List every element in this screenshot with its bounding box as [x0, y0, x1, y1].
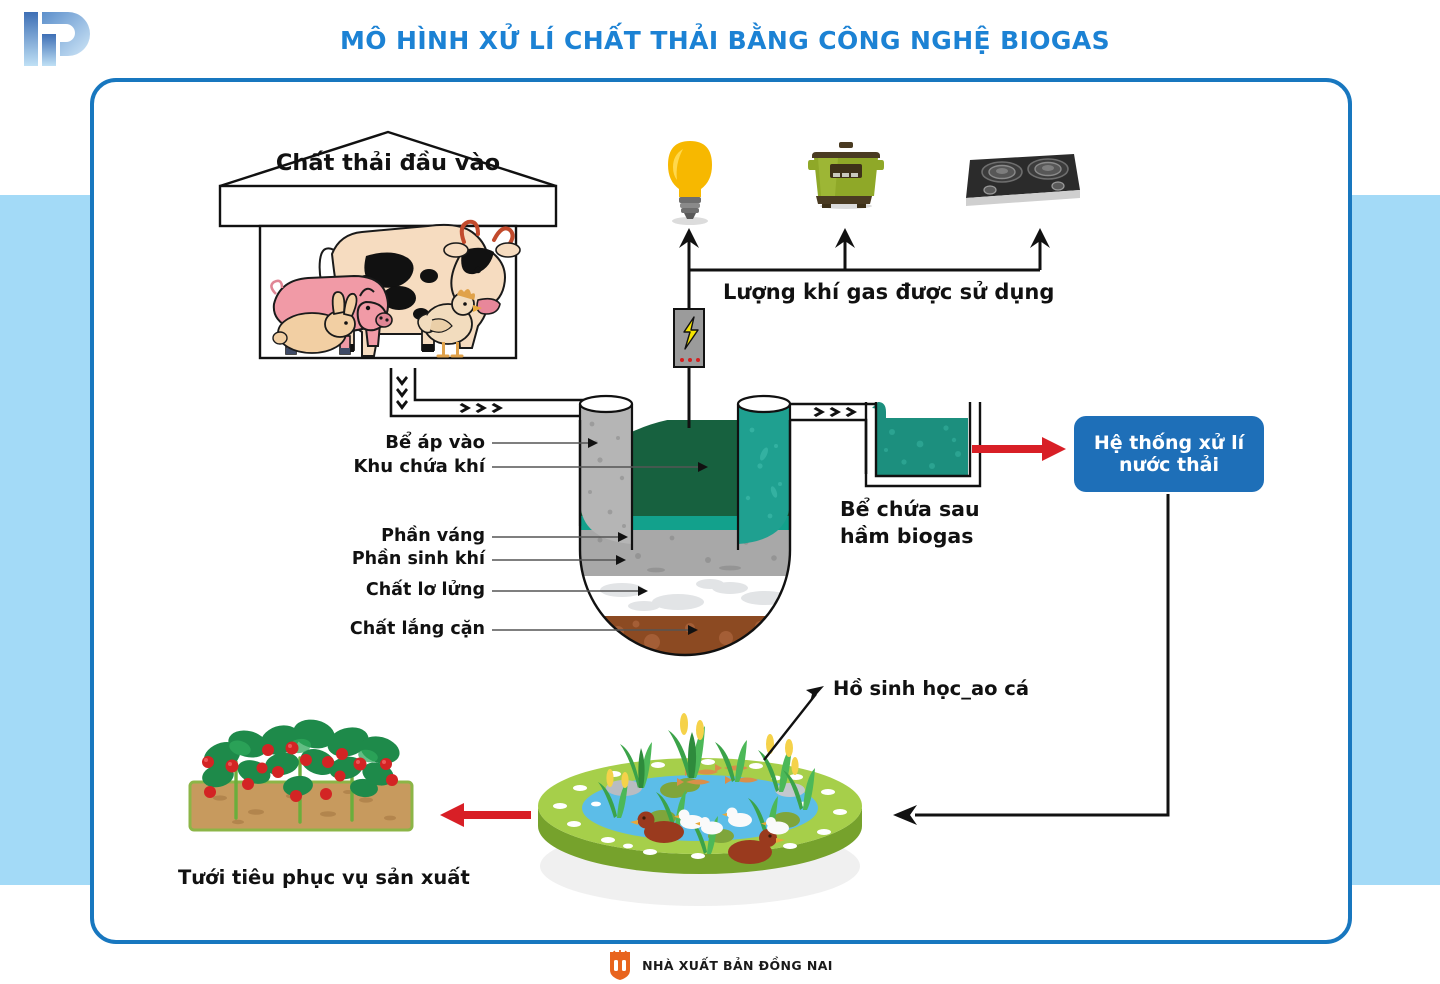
- infographic-stage: MÔ HÌNH XỬ LÍ CHẤT THẢI BẰNG CÔNG NGHỆ B…: [0, 0, 1440, 984]
- crop-field: [180, 700, 440, 850]
- field-label: Tưới tiêu phục vụ sản xuất: [178, 866, 458, 889]
- footer: NHÀ XUẤT BẢN ĐỒNG NAI: [0, 950, 1440, 980]
- red-arrow-to-field: [438, 800, 533, 830]
- pond-label: Hồ sinh học_ao cá: [833, 677, 1029, 700]
- publisher-name: NHÀ XUẤT BẢN ĐỒNG NAI: [642, 958, 833, 973]
- dong-nai-shield-logo: [607, 950, 633, 980]
